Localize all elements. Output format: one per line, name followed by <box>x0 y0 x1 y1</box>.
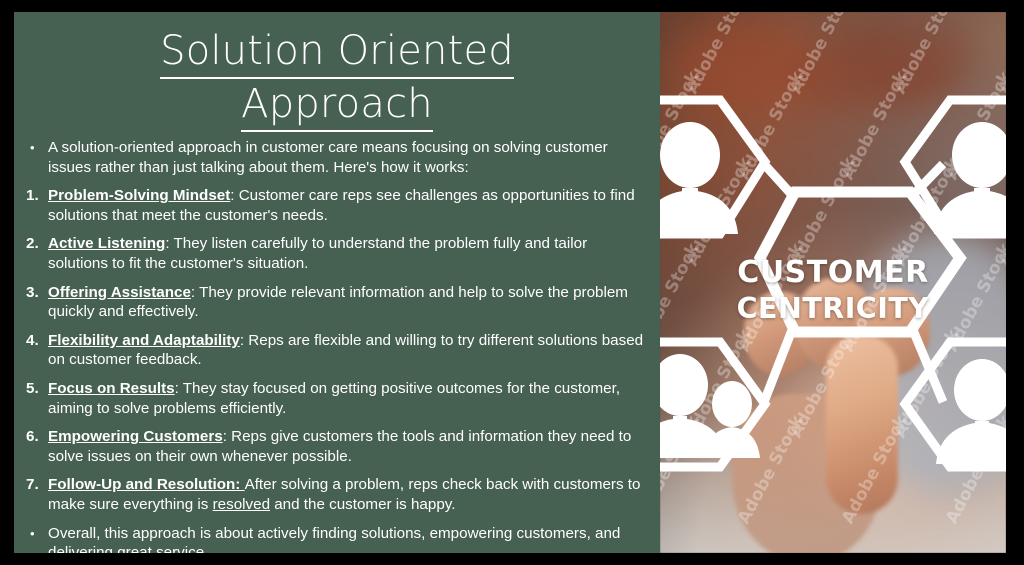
list-number: 1. <box>26 186 48 206</box>
list-item-text: Active Listening: They listen carefully … <box>48 234 650 273</box>
person-icon <box>934 122 1006 234</box>
list-item-3: 3. Offering Assistance: They provide rel… <box>24 283 650 322</box>
person-icon <box>660 122 738 234</box>
list-item-5: 5. Focus on Results: They stay focused o… <box>24 379 650 418</box>
list-item-intro: • A solution-oriented approach in custom… <box>24 138 650 177</box>
list-number: 5. <box>26 379 48 399</box>
list-item-text: Focus on Results: They stay focused on g… <box>48 379 650 418</box>
list-item-lead: Flexibility and Adaptability <box>48 332 240 349</box>
bullet-marker: • <box>30 138 52 158</box>
list-item-lead: Focus on Results <box>48 380 175 397</box>
list-item-4: 4. Flexibility and Adaptability: Reps ar… <box>24 331 650 370</box>
list-item-text: Empowering Customers: Reps give customer… <box>48 427 650 466</box>
title-line-1: Solution Oriented <box>160 26 514 79</box>
page-title: Solution Oriented Approach <box>14 12 660 132</box>
list-item-lead: Active Listening <box>48 235 165 252</box>
title-line-2: Approach <box>241 79 433 132</box>
center-hexagon <box>760 192 960 332</box>
list-item-lead: Offering Assistance <box>48 284 191 301</box>
hexagon-network-graphic <box>660 12 1006 553</box>
bullet-marker: • <box>30 524 52 544</box>
emphasis-resolved: resolved <box>213 496 270 513</box>
list-item-lead: Follow-Up and Resolution: <box>48 476 245 493</box>
list-number: 3. <box>26 283 48 303</box>
list-item-6: 6. Empowering Customers: Reps give custo… <box>24 427 650 466</box>
list-number: 2. <box>26 234 48 254</box>
list-item-2: 2. Active Listening: They listen careful… <box>24 234 650 273</box>
list-item-7: 7. Follow-Up and Resolution: After solvi… <box>24 475 650 514</box>
list-item-text: Flexibility and Adaptability: Reps are f… <box>48 331 650 370</box>
person-icon <box>936 359 1006 464</box>
list-item-text: Offering Assistance: They provide releva… <box>48 283 650 322</box>
list-item-text: Problem-Solving Mindset: Customer care r… <box>48 186 650 225</box>
list-item-text: Overall, this approach is about actively… <box>48 524 650 554</box>
hex-connector <box>764 330 792 402</box>
list-number: 7. <box>26 475 48 495</box>
list-item-text: Follow-Up and Resolution: After solving … <box>48 475 650 514</box>
list-number: 6. <box>26 427 48 447</box>
list-item-1: 1. Problem-Solving Mindset: Customer car… <box>24 186 650 225</box>
content-panel: Solution Oriented Approach • A solution-… <box>14 12 660 553</box>
list-item-lead: Problem-Solving Mindset <box>48 187 230 204</box>
list-item-lead: Empowering Customers <box>48 428 223 445</box>
list-item-body-after: and the customer is happy. <box>270 496 455 513</box>
body-list: • A solution-oriented approach in custom… <box>14 132 660 553</box>
hex-connector <box>764 164 792 195</box>
list-number: 4. <box>26 331 48 351</box>
list-item-text: A solution-oriented approach in customer… <box>48 138 650 177</box>
list-item-summary: • Overall, this approach is about active… <box>24 524 650 554</box>
slide-root: Solution Oriented Approach • A solution-… <box>0 0 1024 565</box>
photo-panel: CUSTOMER CENTRICITY Adobe StockAdobe Sto… <box>660 12 1006 553</box>
